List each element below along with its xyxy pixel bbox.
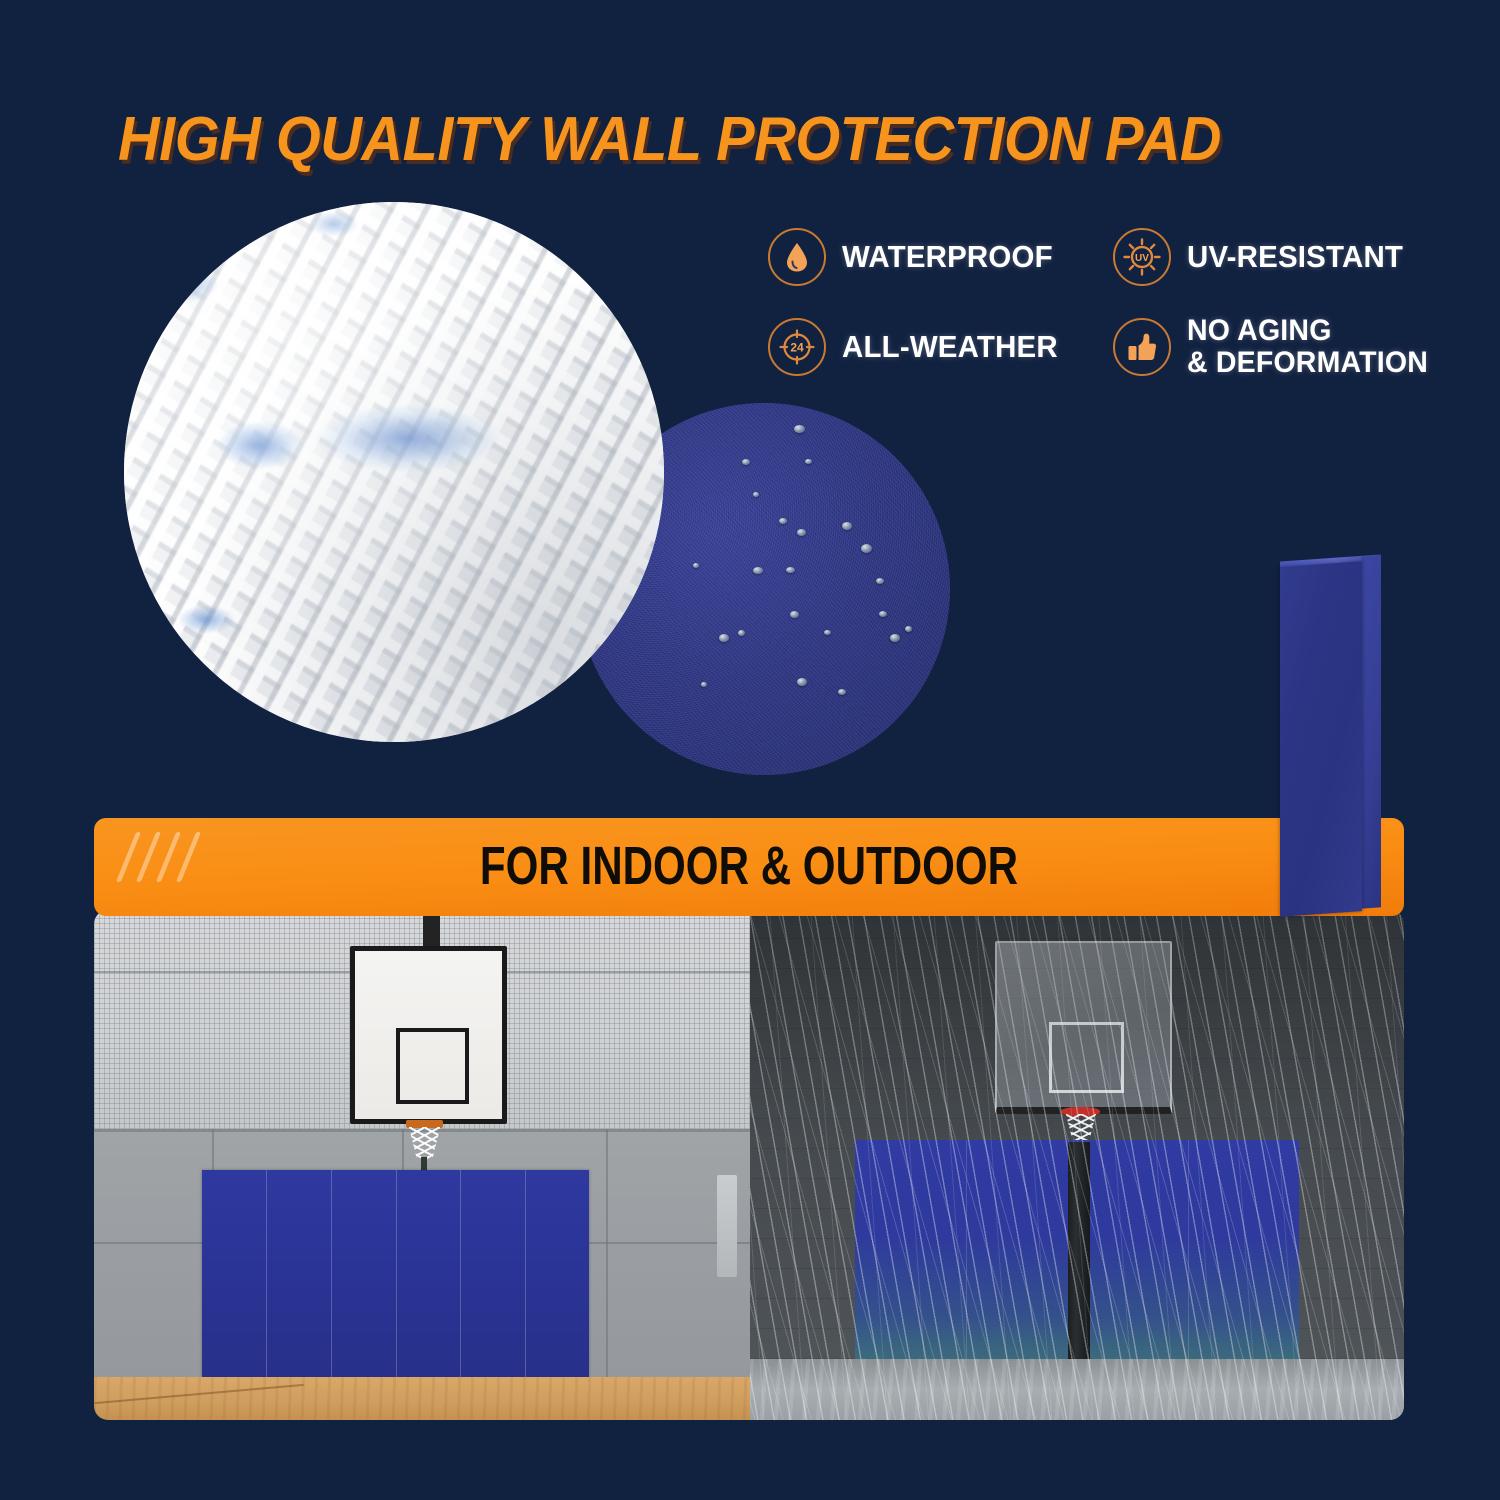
water-droplet	[805, 459, 812, 464]
water-droplet	[824, 630, 831, 635]
svg-text:UV: UV	[1135, 253, 1149, 264]
outdoor-backboard	[995, 941, 1172, 1114]
water-droplet	[701, 682, 707, 687]
waffle-fabric-closeup	[124, 202, 664, 742]
feature-no-aging-deformation: NO AGING & DEFORMATION	[1113, 302, 1458, 392]
feature-label: WATERPROOF	[842, 241, 1053, 274]
water-droplet	[738, 630, 745, 636]
feature-list: WATERPROOF UV UV-RESISTANT	[768, 212, 1458, 392]
feature-uv-resistant: UV UV-RESISTANT	[1113, 212, 1458, 302]
waffle-shading	[124, 202, 664, 742]
feature-label: UV-RESISTANT	[1187, 241, 1403, 274]
24-hour-clock-icon: 24	[768, 318, 826, 376]
feature-label: ALL-WEATHER	[842, 331, 1058, 364]
water-droplet	[719, 634, 729, 642]
banner-title-text: FOR INDOOR & OUTDOOR	[480, 835, 1018, 897]
svg-text:24: 24	[790, 341, 804, 355]
outdoor-rain-photo	[750, 910, 1404, 1420]
pad-side-face	[1361, 555, 1381, 908]
pad-front-face	[1280, 561, 1362, 917]
scene-photo-panel	[94, 910, 1404, 1420]
thumbs-up-icon	[1113, 318, 1171, 376]
indoor-outdoor-banner: FOR INDOOR & OUTDOOR	[94, 818, 1404, 916]
wet-ground	[750, 1359, 1404, 1420]
blue-wall-pad-panel	[1262, 548, 1422, 918]
indoor-gym-photo	[94, 910, 750, 1420]
water-drop-icon	[768, 228, 826, 286]
uv-sun-icon: UV	[1113, 228, 1171, 286]
wall-vent	[717, 1175, 737, 1277]
indoor-wall-pad	[202, 1170, 589, 1377]
water-droplet	[753, 567, 763, 574]
feature-all-weather: 24 ALL-WEATHER	[768, 302, 1113, 392]
indoor-backboard	[350, 946, 507, 1125]
water-droplet	[786, 567, 795, 573]
water-droplet	[742, 459, 750, 465]
page-title: HIGH QUALITY WALL PROTECTION PAD	[118, 104, 1221, 175]
banner-title: FOR INDOOR & OUTDOOR	[94, 835, 1404, 897]
gym-wood-floor	[94, 1377, 750, 1420]
feature-label: NO AGING & DEFORMATION	[1187, 315, 1428, 379]
water-droplet	[890, 634, 900, 642]
water-droplet	[876, 578, 884, 584]
wall-seam	[606, 1129, 608, 1379]
feature-waterproof: WATERPROOF	[768, 212, 1113, 302]
